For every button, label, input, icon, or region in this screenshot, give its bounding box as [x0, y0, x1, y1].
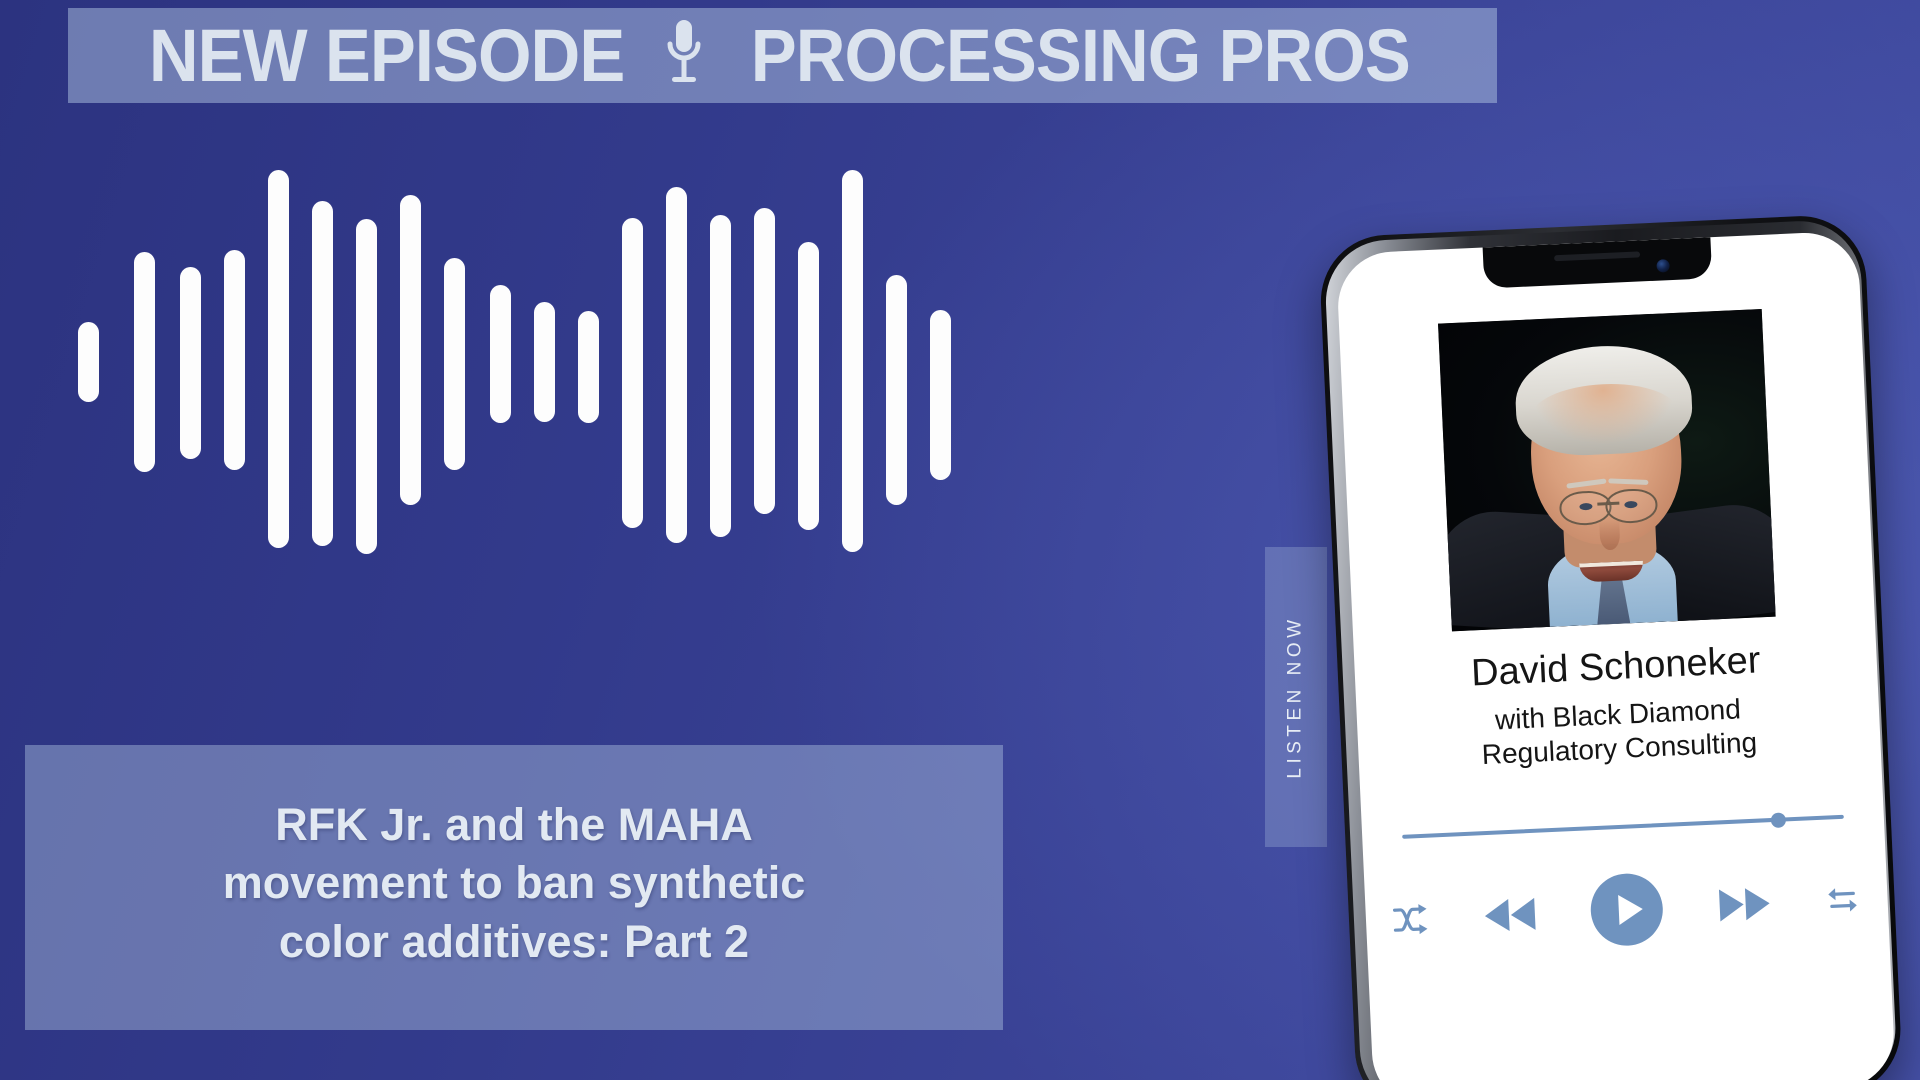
- waveform-bar: [534, 302, 555, 422]
- earpiece-speaker: [1554, 251, 1640, 261]
- waveform-bar: [666, 187, 687, 543]
- new-episode-banner: NEW EPISODE PROCESSING PROS: [68, 8, 1497, 103]
- phone-body: David Schoneker with Black Diamond Regul…: [1318, 213, 1903, 1080]
- episode-title-panel: RFK Jr. and the MAHA movement to ban syn…: [25, 745, 1003, 1030]
- player-controls: [1390, 861, 1863, 958]
- episode-title-line-3: color additives: Part 2: [279, 913, 749, 972]
- waveform-bar: [842, 170, 863, 552]
- front-camera-icon: [1656, 259, 1670, 273]
- waveform-bar: [754, 208, 775, 514]
- guest-company: with Black Diamond Regulatory Consulting: [1356, 686, 1881, 778]
- guest-photo: [1438, 309, 1776, 631]
- microphone-icon: [664, 16, 704, 95]
- repeat-button[interactable]: [1823, 882, 1863, 918]
- episode-title-line-2: movement to ban synthetic: [223, 854, 806, 913]
- shuffle-button[interactable]: [1391, 902, 1431, 938]
- banner-left-text: NEW EPISODE: [148, 19, 623, 93]
- waveform-bar: [356, 219, 377, 554]
- podcast-promo-graphic: NEW EPISODE PROCESSING PROS RFK Jr. and …: [0, 0, 1920, 1080]
- waveform-bar: [578, 311, 599, 423]
- waveform-bar: [886, 275, 907, 505]
- waveform-bar: [798, 242, 819, 530]
- rewind-button[interactable]: [1480, 894, 1540, 937]
- waveform-bar: [710, 215, 731, 537]
- phone-notch: [1483, 237, 1713, 288]
- waveform-bar: [268, 170, 289, 548]
- waveform-bar: [180, 267, 201, 459]
- listen-now-tab[interactable]: LISTEN NOW: [1265, 547, 1327, 847]
- episode-title-line-1: RFK Jr. and the MAHA: [275, 796, 753, 855]
- playback-progress-slider[interactable]: [1402, 810, 1844, 844]
- waveform-bar: [312, 201, 333, 546]
- waveform-bar: [444, 258, 465, 470]
- progress-knob[interactable]: [1770, 812, 1786, 828]
- audio-waveform-graphic: [78, 170, 998, 555]
- waveform-bar: [622, 218, 643, 528]
- waveform-bar: [490, 285, 511, 423]
- waveform-bar: [78, 322, 99, 402]
- waveform-bar: [400, 195, 421, 505]
- waveform-bar: [930, 310, 951, 480]
- waveform-bar: [134, 252, 155, 472]
- fast-forward-button[interactable]: [1714, 883, 1774, 926]
- banner-right-text: PROCESSING PROS: [751, 19, 1410, 93]
- phone-rim: David Schoneker with Black Diamond Regul…: [1323, 218, 1898, 1080]
- waveform-bar: [224, 250, 245, 470]
- phone-mockup: David Schoneker with Black Diamond Regul…: [1318, 213, 1918, 1080]
- phone-screen: David Schoneker with Black Diamond Regul…: [1336, 231, 1896, 1080]
- listen-now-label: LISTEN NOW: [1285, 615, 1307, 778]
- play-button[interactable]: [1587, 870, 1666, 949]
